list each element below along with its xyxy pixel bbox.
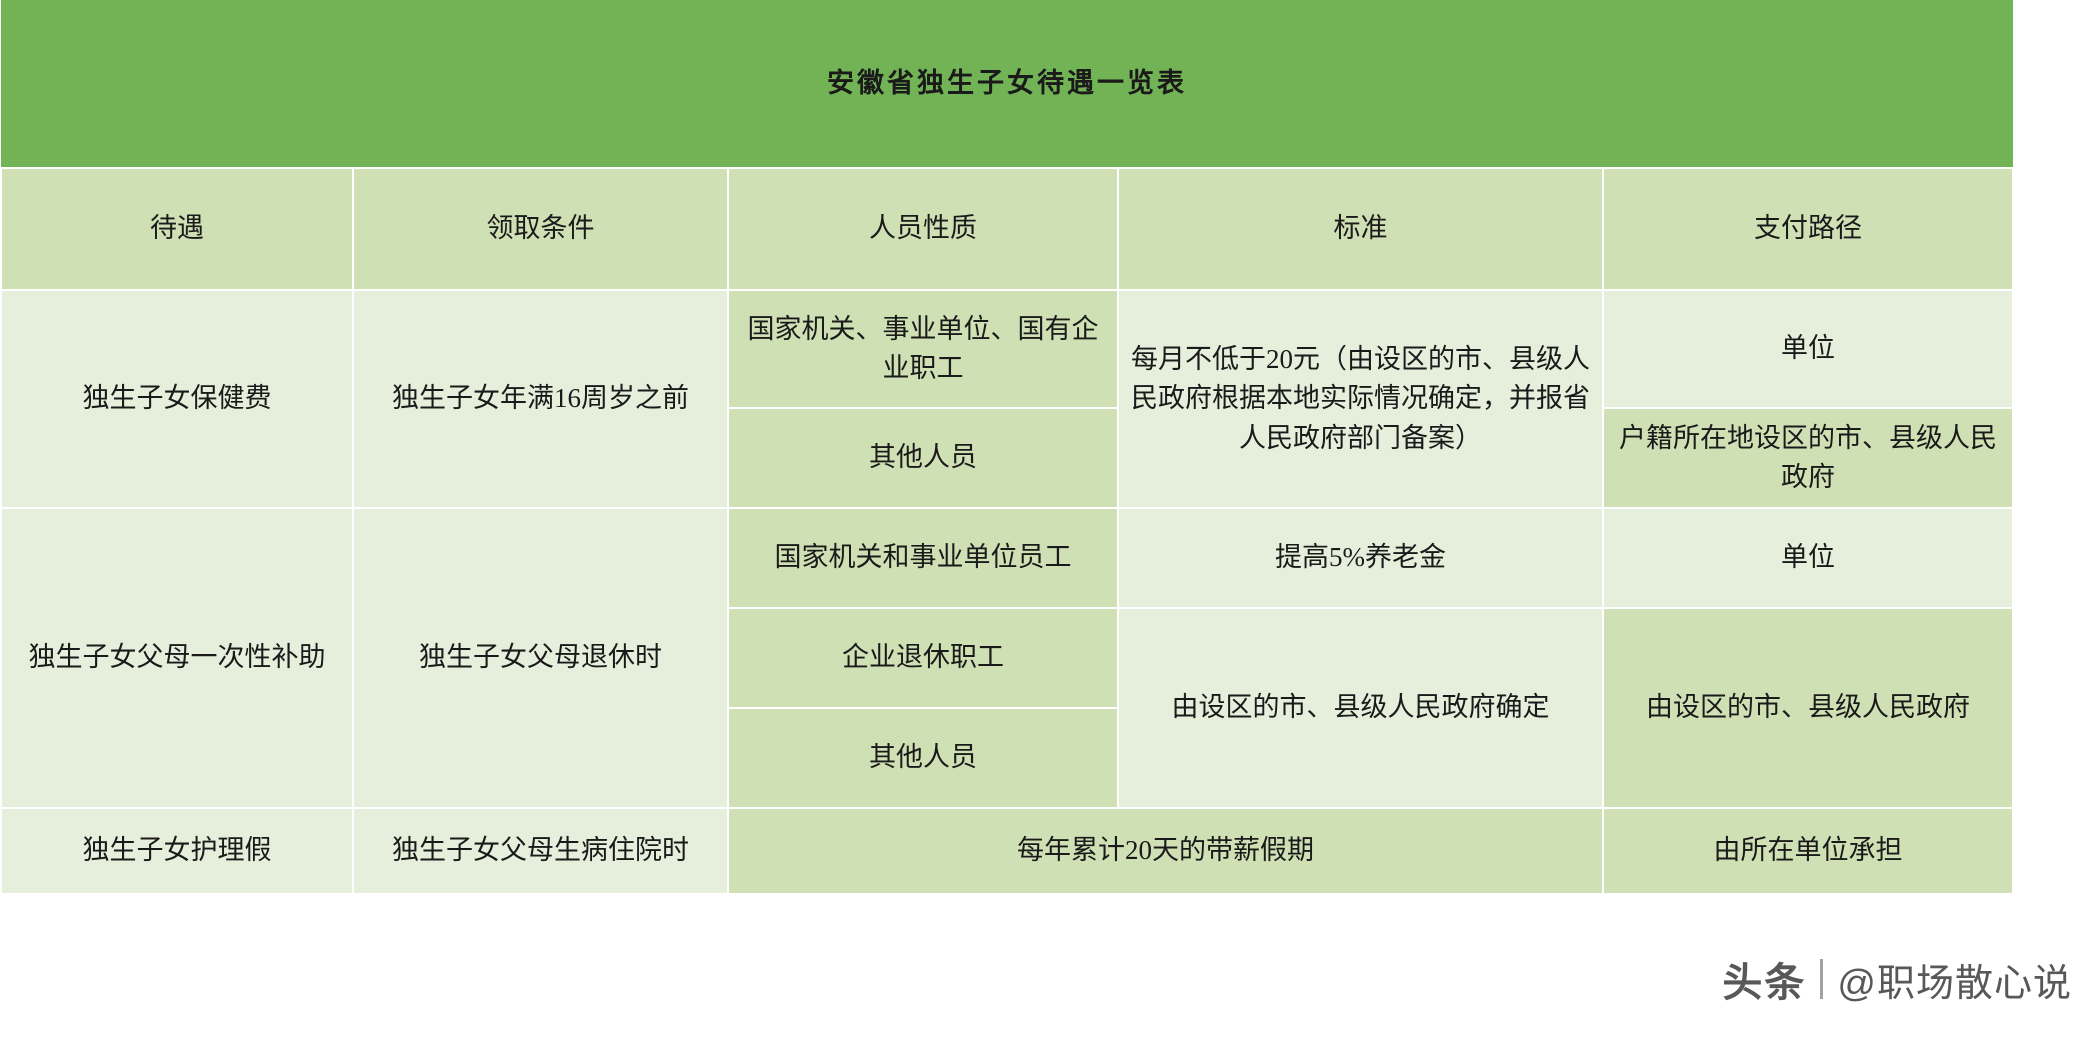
watermark-text: @职场散心说 — [1837, 952, 2072, 1007]
cell-condition-healthcare-fee: 独生子女年满16周岁之前 — [353, 290, 728, 508]
watermark-divider — [1820, 959, 1823, 999]
benefits-table-wrapper: 安徽省独生子女待遇一览表 待遇 领取条件 人员性质 标准 支付路径 独生子女保健… — [0, 0, 2012, 895]
column-header-person-type: 人员性质 — [728, 168, 1118, 290]
watermark: 头条 @职场散心说 — [1722, 950, 2072, 1008]
cell-person-type-state-org: 国家机关、事业单位、国有企业职工 — [728, 290, 1118, 408]
table-row: 独生子女护理假 独生子女父母生病住院时 每年累计20天的带薪假期 由所在单位承担 — [1, 808, 2013, 894]
table-row: 独生子女保健费 独生子女年满16周岁之前 国家机关、事业单位、国有企业职工 每月… — [1, 290, 2013, 408]
column-header-condition: 领取条件 — [353, 168, 728, 290]
cell-benefit-onetime-subsidy: 独生子女父母一次性补助 — [1, 508, 353, 808]
cell-path-care-leave: 由所在单位承担 — [1603, 808, 2013, 894]
cell-person-type-other-2: 其他人员 — [728, 708, 1118, 808]
cell-standard-care-leave: 每年累计20天的带薪假期 — [728, 808, 1603, 894]
cell-condition-care-leave: 独生子女父母生病住院时 — [353, 808, 728, 894]
cell-benefit-care-leave: 独生子女护理假 — [1, 808, 353, 894]
cell-standard-local-gov-determined: 由设区的市、县级人民政府确定 — [1118, 608, 1603, 808]
column-header-standard: 标准 — [1118, 168, 1603, 290]
table-row: 独生子女父母一次性补助 独生子女父母退休时 国家机关和事业单位员工 提高5%养老… — [1, 508, 2013, 608]
cell-path-unit-2: 单位 — [1603, 508, 2013, 608]
cell-person-type-other-1: 其他人员 — [728, 408, 1118, 508]
cell-path-local-gov: 由设区的市、县级人民政府 — [1603, 608, 2013, 808]
cell-path-household-gov: 户籍所在地设区的市、县级人民政府 — [1603, 408, 2013, 508]
cell-path-unit-1: 单位 — [1603, 290, 2013, 408]
watermark-logo: 头条 — [1722, 950, 1806, 1008]
cell-benefit-healthcare-fee: 独生子女保健费 — [1, 290, 353, 508]
cell-person-type-enterprise-retiree: 企业退休职工 — [728, 608, 1118, 708]
page-title: 安徽省独生子女待遇一览表 — [1, 0, 2013, 168]
cell-person-type-gov-institution: 国家机关和事业单位员工 — [728, 508, 1118, 608]
table-title-row: 安徽省独生子女待遇一览表 — [1, 0, 2013, 168]
column-header-payment-path: 支付路径 — [1603, 168, 2013, 290]
cell-standard-healthcare-fee: 每月不低于20元（由设区的市、县级人民政府根据本地实际情况确定，并报省人民政府部… — [1118, 290, 1603, 508]
cell-condition-onetime-subsidy: 独生子女父母退休时 — [353, 508, 728, 808]
column-header-benefit: 待遇 — [1, 168, 353, 290]
cell-standard-pension-increase: 提高5%养老金 — [1118, 508, 1603, 608]
document-page: 安徽省独生子女待遇一览表 待遇 领取条件 人员性质 标准 支付路径 独生子女保健… — [0, 0, 2090, 1042]
table-header-row: 待遇 领取条件 人员性质 标准 支付路径 — [1, 168, 2013, 290]
benefits-table: 安徽省独生子女待遇一览表 待遇 领取条件 人员性质 标准 支付路径 独生子女保健… — [0, 0, 2014, 895]
